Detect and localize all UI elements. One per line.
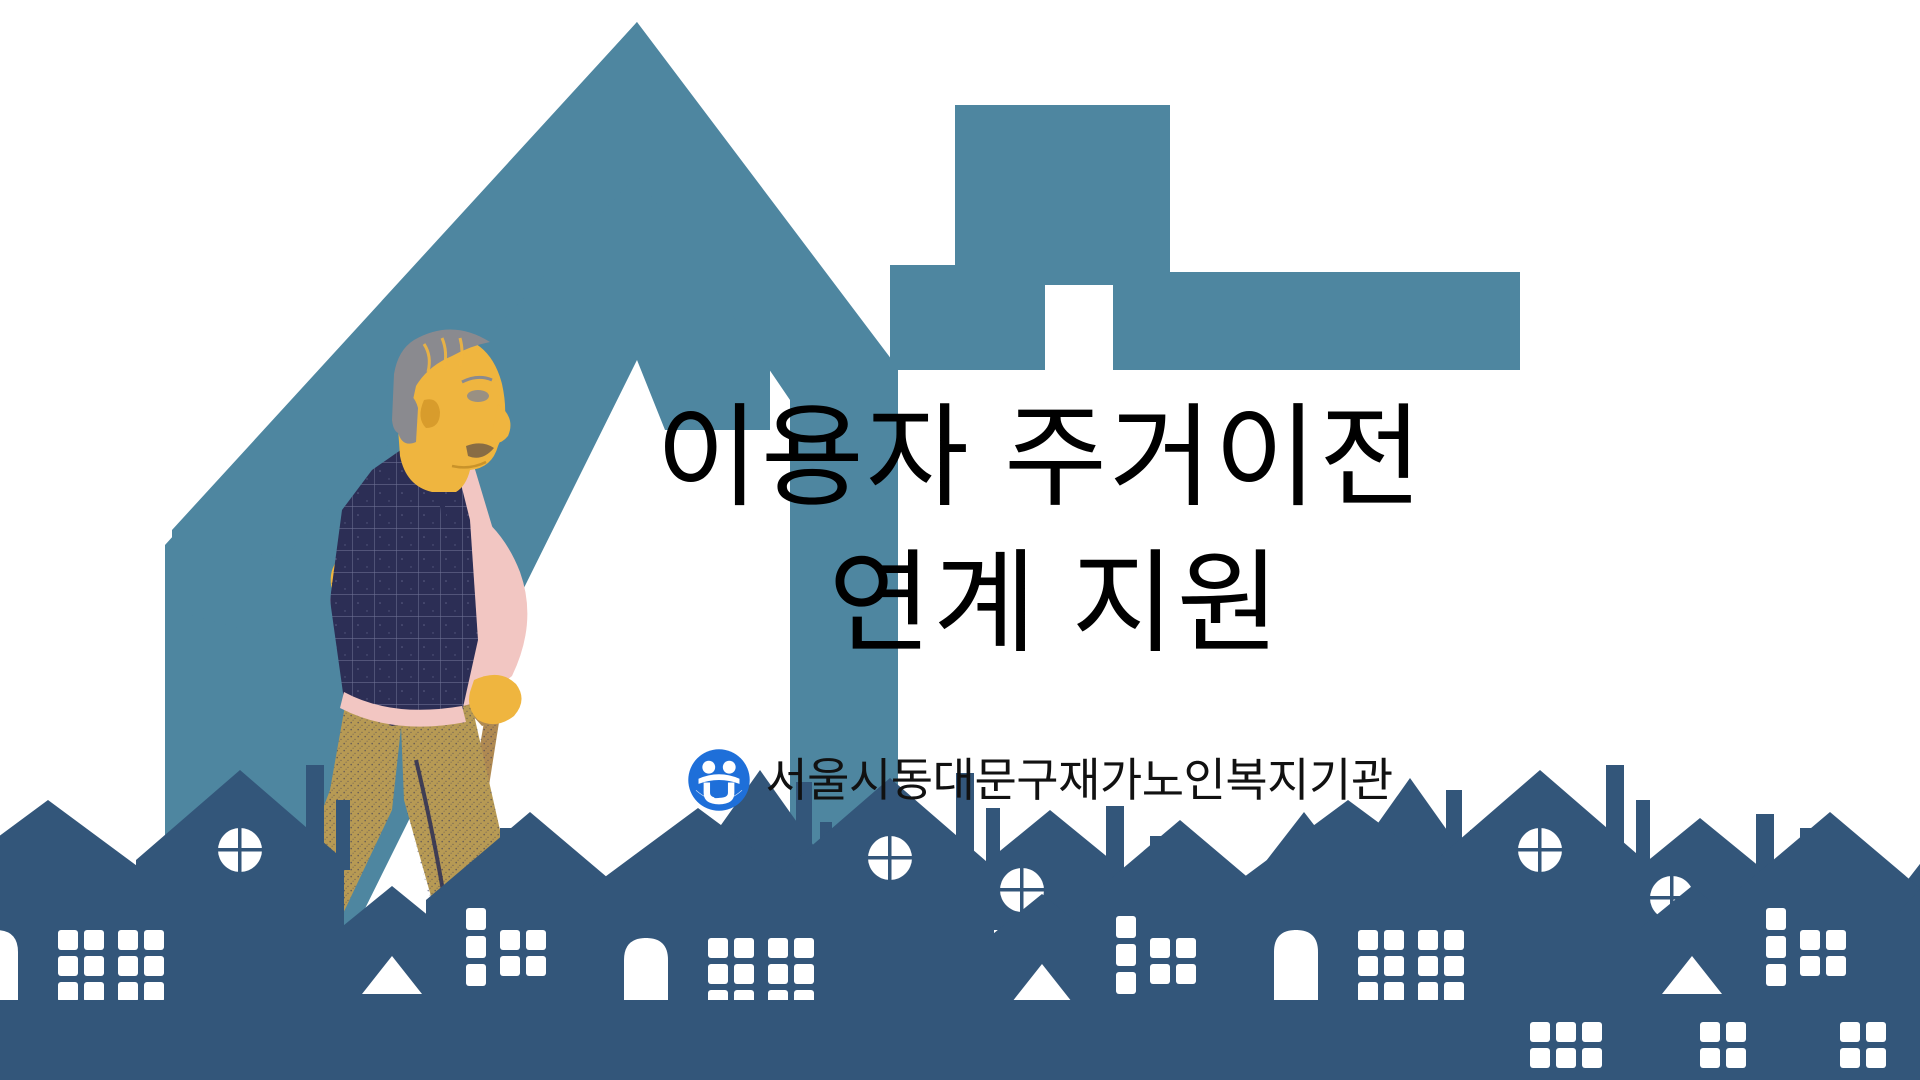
cityscape-silhouette <box>0 0 1920 1080</box>
slide-canvas: 이용자 주거이전 연계 지원 서울시동대문구재가노인복지기관 <box>0 0 1920 1080</box>
organization-row: 서울시동대문구재가노인복지기관 <box>560 748 1520 812</box>
welfare-circle-logo-icon <box>687 748 751 812</box>
organization-name: 서울시동대문구재가노인복지기관 <box>765 757 1392 803</box>
cityscape-row <box>0 765 1920 1080</box>
